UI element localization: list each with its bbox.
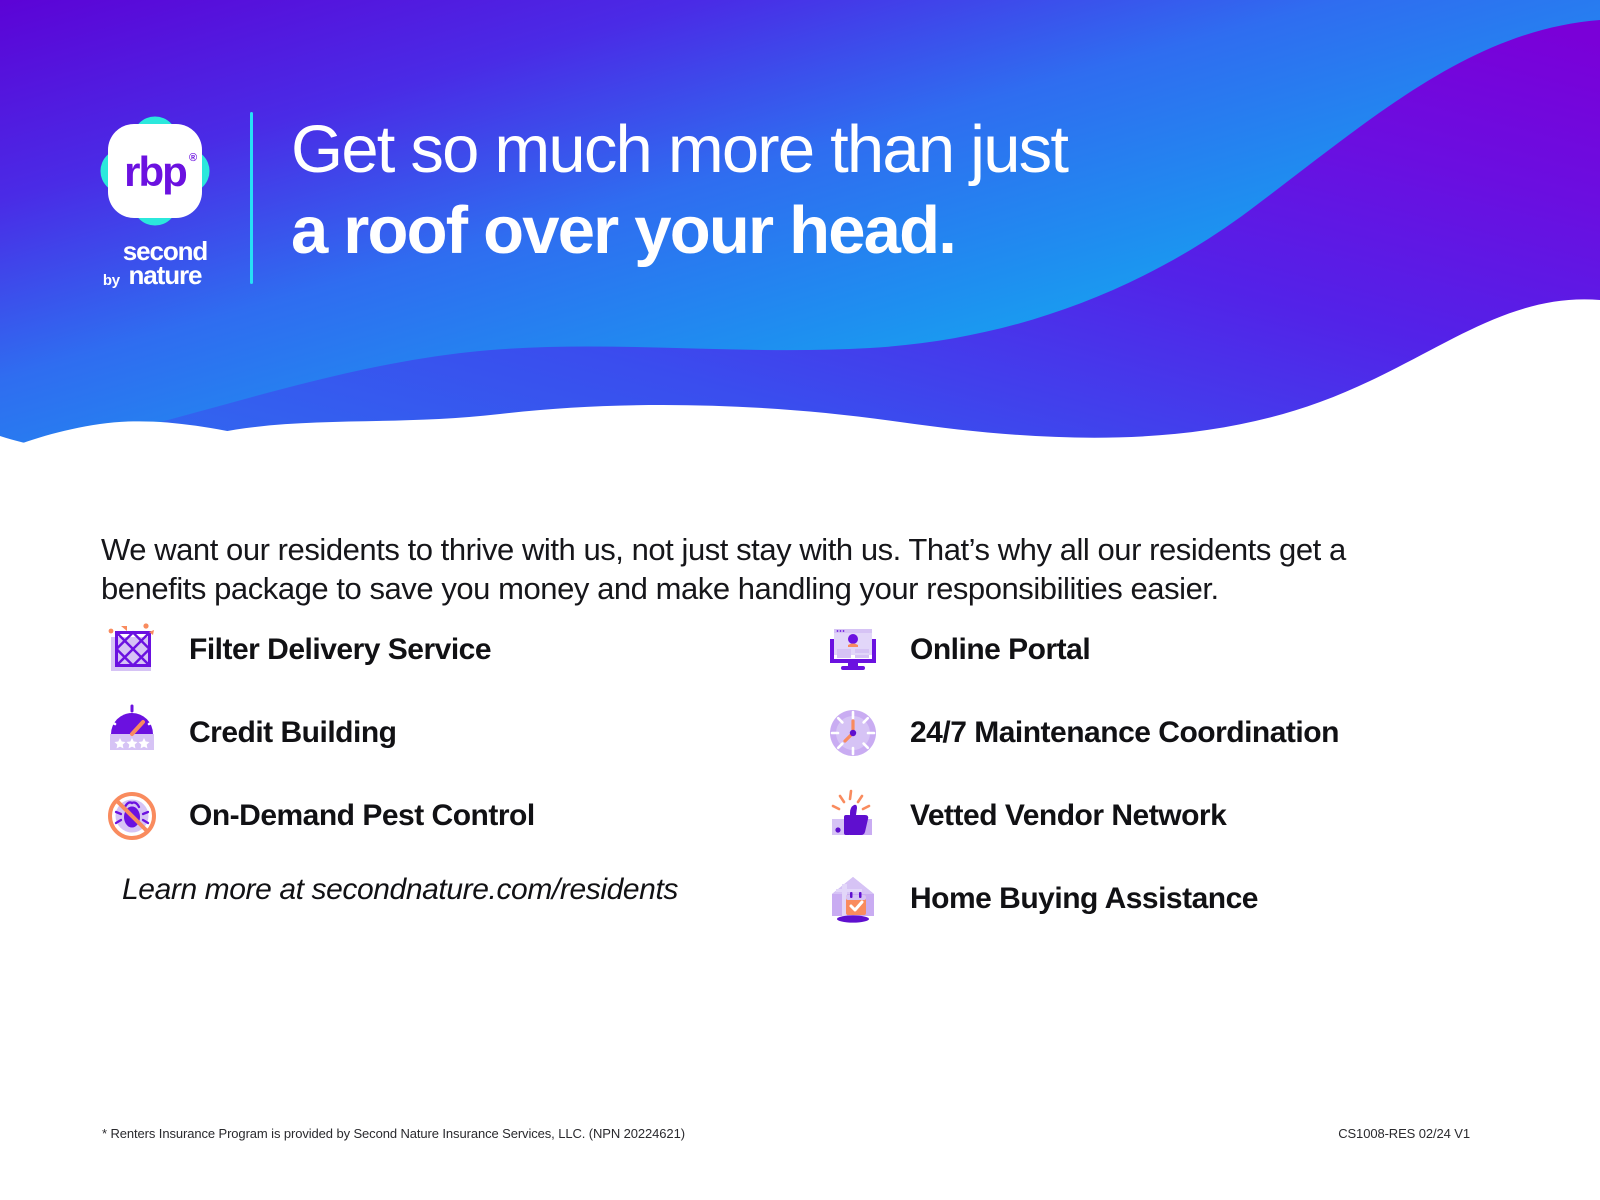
benefit-item-online-portal: Online Portal [822,608,1522,691]
intro-paragraph: We want our residents to thrive with us,… [101,531,1431,609]
svg-text:rbp: rbp [124,148,186,195]
headline-line-1: Get so much more than just [291,116,1067,183]
footer-document-code: CS1008-RES 02/24 V1 [1338,1126,1470,1141]
brand-byline: bysecondnature [92,240,218,288]
benefit-label: Filter Delivery Service [189,633,491,667]
benefit-label: Credit Building [189,716,396,750]
benefits-column-right: Online Portal [822,608,1522,940]
benefit-item-filter-delivery: Filter Delivery Service [101,608,741,691]
svg-text:®: ® [189,152,197,164]
benefit-label: Home Buying Assistance [910,882,1258,916]
benefit-label: On-Demand Pest Control [189,799,535,833]
benefit-item-vendor-network: Vetted Vendor Network [822,774,1522,857]
benefit-item-maintenance: 24/7 Maintenance Coordination [822,691,1522,774]
benefit-label: Vetted Vendor Network [910,799,1226,833]
air-filter-icon [101,619,163,681]
hero-headline: Get so much more than just a roof over y… [291,116,1067,264]
benefits-column-left: Filter Delivery Service Credit Building [101,608,741,857]
footer-disclaimer: * Renters Insurance Program is provided … [102,1126,685,1141]
benefit-item-credit-building: Credit Building [101,691,741,774]
hero-vertical-divider [250,112,253,284]
credit-gauge-icon [101,702,163,764]
clock-icon [822,702,884,764]
house-sold-sign-icon [822,868,884,930]
benefit-label: 24/7 Maintenance Coordination [910,716,1339,750]
rbp-logo-mark: rbp ® [92,108,218,234]
headline-line-2: a roof over your head. [291,197,1067,264]
monitor-portal-icon [822,619,884,681]
byline-nature: nature [123,264,207,288]
learn-more-text: Learn more at secondnature.com/residents [122,873,678,907]
brand-logo: rbp ® bysecondnature [92,108,224,288]
thumbs-up-icon [822,785,884,847]
rbp-rosette-icon: rbp ® [92,108,218,234]
benefit-label: Online Portal [910,633,1090,667]
benefit-item-pest-control: On-Demand Pest Control [101,774,741,857]
benefit-item-home-buying: Home Buying Assistance [822,857,1522,940]
no-pest-icon [101,785,163,847]
byline-by-label: by [103,273,120,288]
